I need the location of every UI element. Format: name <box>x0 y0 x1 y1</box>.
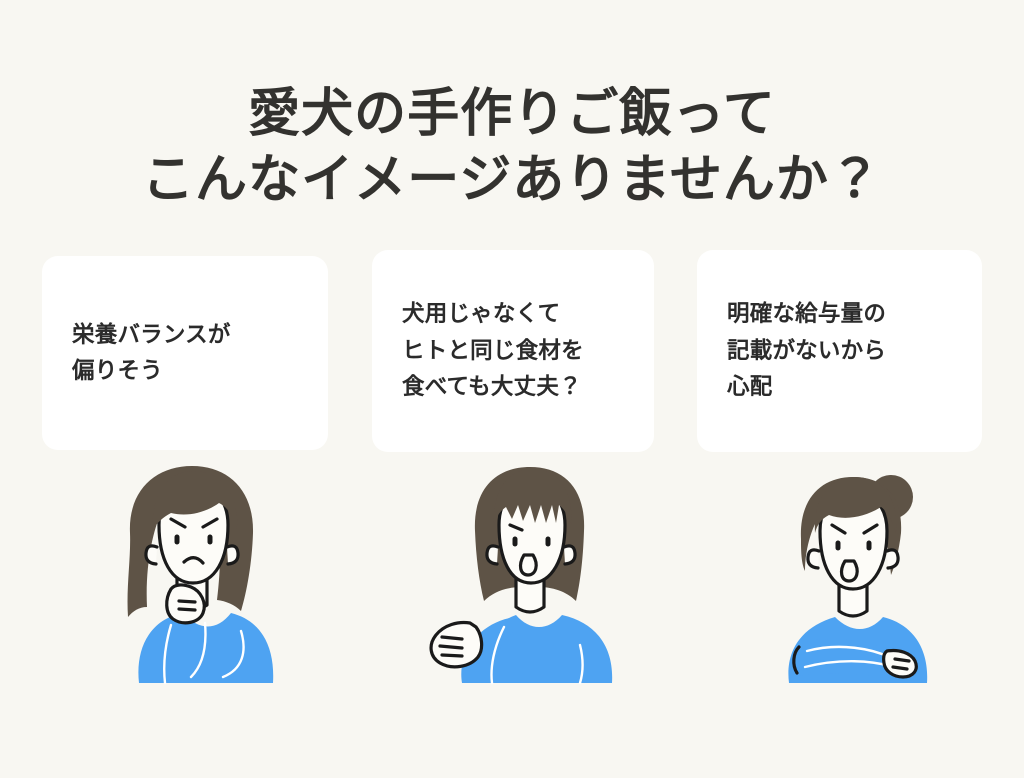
finger-line <box>893 667 907 669</box>
surprised-woman-illustration <box>420 455 630 685</box>
finger-line <box>179 609 195 610</box>
concern-card-nutrition-balance: 栄養バランスが 偏りそう <box>42 256 328 450</box>
worried-woman-illustration <box>95 455 295 685</box>
illustration-concerned-woman <box>755 455 955 685</box>
finger-line <box>895 659 909 661</box>
ear-right <box>227 546 238 564</box>
concern-card-list: 栄養バランスが 偏りそう 犬用じゃなくて ヒトと同じ食材を 食べても大丈夫？ 明… <box>42 250 982 455</box>
concerned-woman-illustration <box>755 455 955 685</box>
ear-right <box>564 546 575 564</box>
card-text-line: 明確な給与量の <box>727 296 886 332</box>
card-text: 栄養バランスが 偏りそう <box>72 317 231 390</box>
page-title: 愛犬の手作りご飯って こんなイメージありませんか？ <box>0 81 1024 214</box>
finger-line <box>442 637 462 639</box>
ear-left <box>146 546 157 564</box>
finger-line <box>442 655 462 656</box>
page-title-line-2: こんなイメージありませんか？ <box>0 147 1024 214</box>
page-title-line-1: 愛犬の手作りご飯って <box>0 81 1024 148</box>
card-text-line: 栄養バランスが <box>72 317 231 353</box>
card-text-line: 食べても大丈夫？ <box>402 369 584 405</box>
hand-right <box>884 650 917 677</box>
card-text: 明確な給与量の 記載がないから 心配 <box>727 296 886 405</box>
finger-line <box>179 601 195 602</box>
card-text: 犬用じゃなくて ヒトと同じ食材を 食べても大丈夫？ <box>402 296 584 405</box>
illustration-surprised-woman <box>420 455 630 685</box>
finger-line <box>440 646 462 648</box>
card-text-line: 記載がないから <box>727 333 886 369</box>
illustration-worried-woman <box>95 455 295 685</box>
card-text-line: 心配 <box>727 369 886 405</box>
ear-left <box>808 550 819 568</box>
card-text-line: ヒトと同じ食材を <box>402 333 584 369</box>
illustration-row <box>0 455 1024 705</box>
ear-right <box>887 550 898 568</box>
card-text-line: 犬用じゃなくて <box>402 296 584 332</box>
hand-on-chin <box>167 585 205 623</box>
mouth-open <box>842 561 858 581</box>
card-text-line: 偏りそう <box>72 353 231 389</box>
slide-root: 愛犬の手作りご飯って こんなイメージありませんか？ 栄養バランスが 偏りそう 犬… <box>0 0 1024 778</box>
concern-card-feeding-amount: 明確な給与量の 記載がないから 心配 <box>697 250 982 452</box>
concern-card-human-ingredients: 犬用じゃなくて ヒトと同じ食材を 食べても大丈夫？ <box>372 250 654 452</box>
ear-left <box>487 546 498 564</box>
mouth-open <box>521 555 537 575</box>
open-palm-hand <box>431 623 482 667</box>
